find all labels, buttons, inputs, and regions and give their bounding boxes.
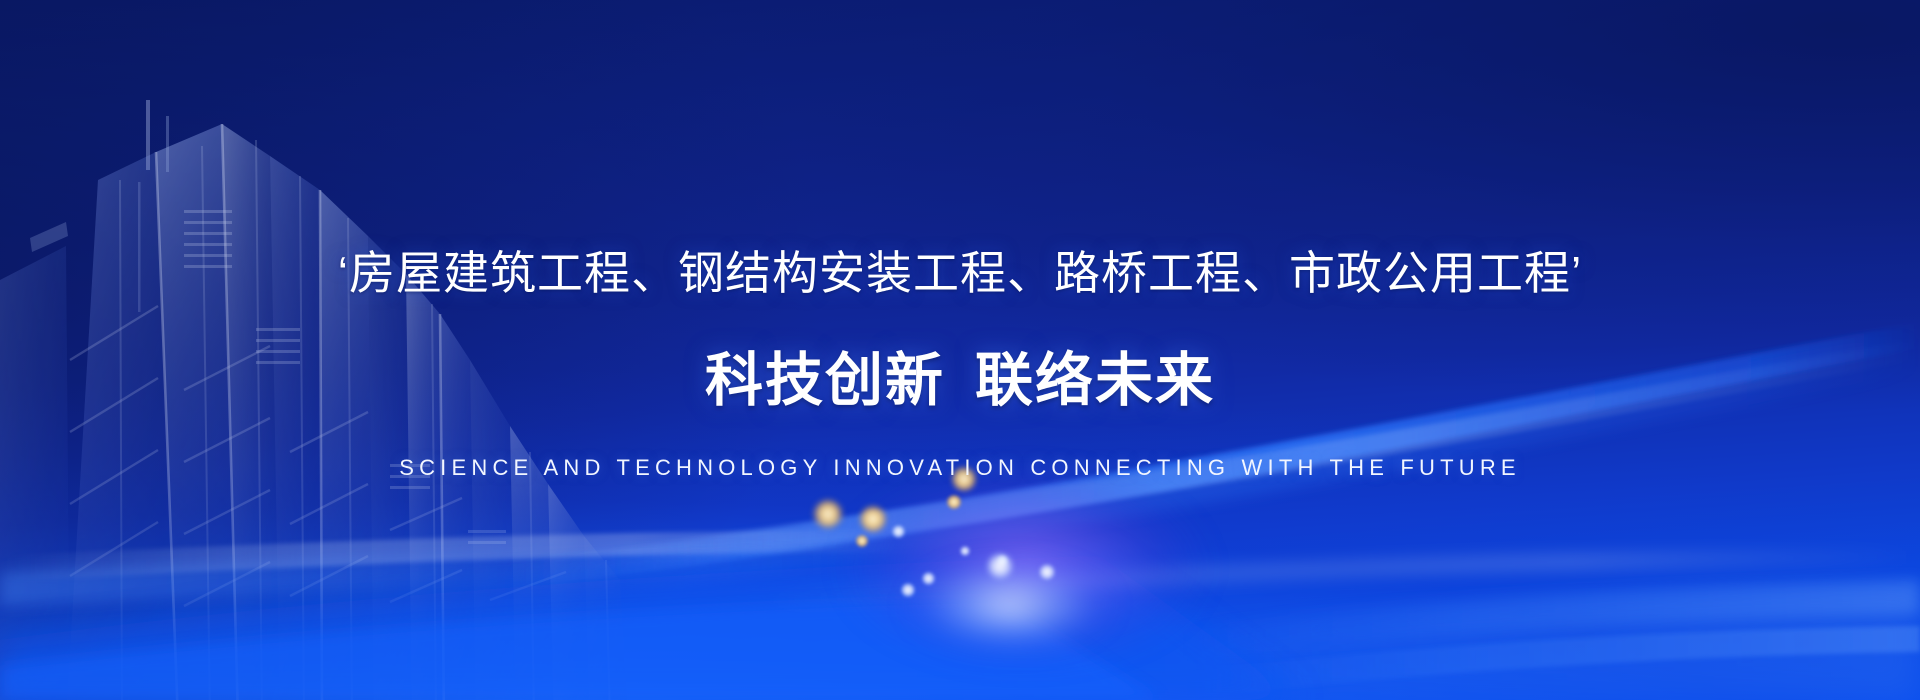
bokeh-dot <box>814 500 842 528</box>
bokeh-dot <box>860 506 886 532</box>
hero-banner: ‘房屋建筑工程、钢结构安装工程、路桥工程、市政公用工程’ 科技创新联络未来 SC… <box>0 0 1920 700</box>
subtitle-english: SCIENCE AND TECHNOLOGY INNOVATION CONNEC… <box>0 457 1920 479</box>
headline-main: 科技创新联络未来 <box>0 352 1920 410</box>
bokeh-dot <box>892 525 905 538</box>
headline-main-right: 联络未来 <box>975 348 1215 413</box>
bokeh-dot <box>1039 564 1055 580</box>
headline-main-left: 科技创新 <box>705 348 945 413</box>
bokeh-dot <box>856 535 868 547</box>
headline-quote: ‘房屋建筑工程、钢结构安装工程、路桥工程、市政公用工程’ <box>0 250 1920 296</box>
bokeh-dot <box>947 495 961 509</box>
bokeh-dot <box>987 553 1013 579</box>
bokeh-dot <box>901 583 915 597</box>
bokeh-dot <box>922 572 935 585</box>
bokeh-dot <box>960 546 970 556</box>
